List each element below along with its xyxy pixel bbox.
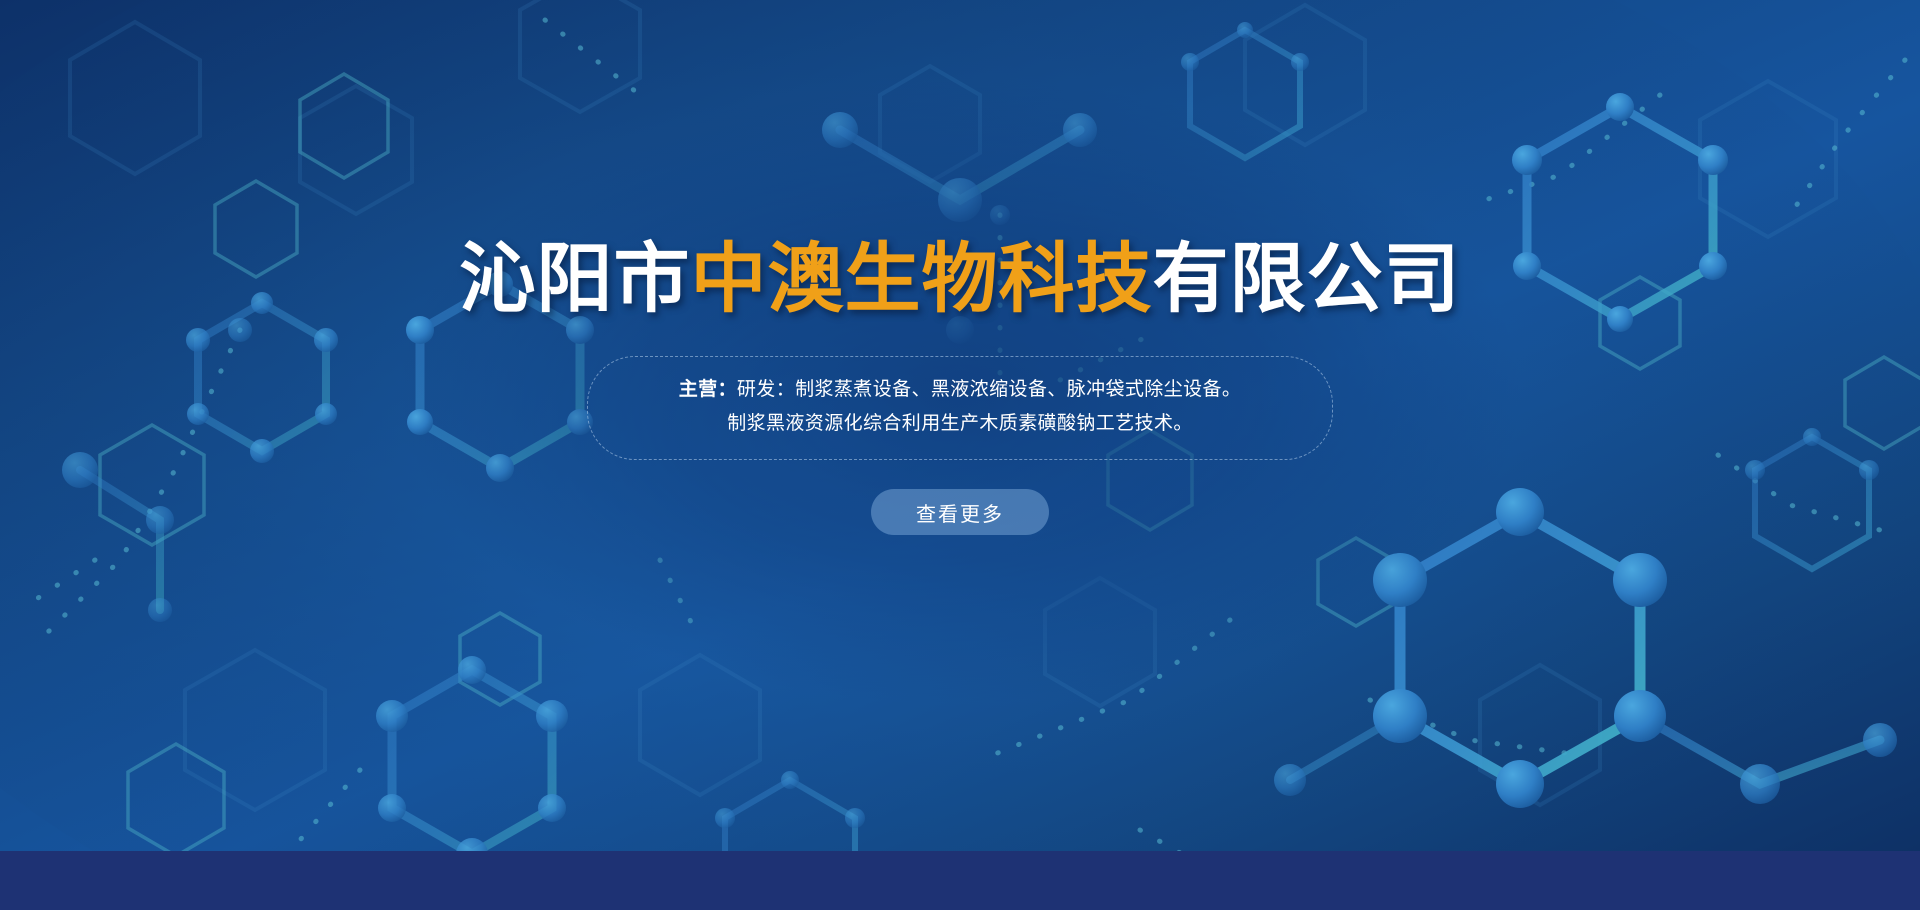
hero-subtitle-box: 主营：研发：制浆蒸煮设备、黑液浓缩设备、脉冲袋式除尘设备。 制浆黑液资源化综合利… <box>587 356 1333 460</box>
view-more-button[interactable]: 查看更多 <box>871 489 1049 535</box>
hero-subtitle-lead: 主营： <box>679 379 737 400</box>
hero-content: 沁阳市中澳生物科技有限公司 主营：研发：制浆蒸煮设备、黑液浓缩设备、脉冲袋式除尘… <box>0 0 1920 851</box>
hero-banner: 沁阳市中澳生物科技有限公司 主营：研发：制浆蒸煮设备、黑液浓缩设备、脉冲袋式除尘… <box>0 0 1920 851</box>
hero-subtitle-line-2: 制浆黑液资源化综合利用生产木质素磺酸钠工艺技术。 <box>616 407 1304 441</box>
page-title-prefix: 沁阳市 <box>460 237 691 322</box>
page-title: 沁阳市中澳生物科技有限公司 <box>460 242 1461 318</box>
hero-subtitle-line-1-rest: 研发：制浆蒸煮设备、黑液浓缩设备、脉冲袋式除尘设备。 <box>737 379 1241 400</box>
page-title-suffix: 有限公司 <box>1153 237 1461 322</box>
bottom-bar <box>0 851 1920 910</box>
page-root: 沁阳市中澳生物科技有限公司 主营：研发：制浆蒸煮设备、黑液浓缩设备、脉冲袋式除尘… <box>0 0 1920 910</box>
hero-subtitle-line-1: 主营：研发：制浆蒸煮设备、黑液浓缩设备、脉冲袋式除尘设备。 <box>616 373 1304 407</box>
page-title-accent: 中澳生物科技 <box>691 237 1153 322</box>
